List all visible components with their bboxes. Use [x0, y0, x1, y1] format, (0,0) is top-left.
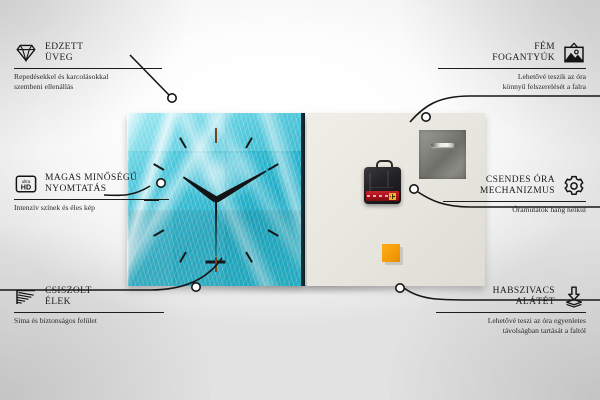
ultra-hd-badge-icon: ultra HD	[14, 172, 38, 196]
mechanism-groove	[369, 173, 371, 192]
callout-high-quality-print: ultra HD MAGAS MINŐSÉGŰ NYOMTATÁS Intenz…	[14, 172, 169, 213]
callout-title-line1: HABSZIVACS	[493, 286, 555, 298]
callout-title-line1: CSENDES ÓRA	[480, 175, 555, 187]
battery-plus-terminal	[389, 193, 396, 199]
callout-metal-handles: FÉM FOGANTYÚK Lehetővé teszik az óra kön…	[438, 41, 586, 91]
press-down-arrow-icon	[562, 285, 586, 309]
callout-title-line2: NYOMTATÁS	[45, 184, 137, 196]
hanging-picture-frame-icon	[562, 41, 586, 65]
callout-title-line1: CSISZOLT	[45, 286, 92, 298]
callout-title-line2: FOGANTYÚK	[492, 53, 555, 65]
callout-title-line1: EDZETT	[45, 42, 83, 54]
aa-battery	[366, 191, 399, 201]
hatched-edge-icon	[14, 285, 38, 309]
metal-hanger-plate	[419, 130, 466, 179]
callout-polished-edges: CSISZOLT ÉLEK Sima és biztonságos felüle…	[14, 285, 164, 326]
callout-tempered-glass: EDZETT ÜVEG Repedésekkel és karcolásokka…	[14, 41, 162, 91]
mechanism-groove	[387, 171, 389, 187]
callout-divider	[14, 312, 164, 313]
mechanism-hanger-loop	[376, 160, 393, 170]
callout-subtitle-line1: Óramutatók hang nélkül	[443, 205, 586, 215]
glass-edge-dark-right	[301, 113, 305, 286]
callout-silent-clock-mechanism: CSENDES ÓRA MECHANIZMUS Óramutatók hang …	[443, 174, 586, 215]
foam-spacer-pad	[382, 244, 400, 262]
callout-title-line2: MECHANIZMUS	[480, 186, 555, 198]
callout-divider	[438, 68, 586, 69]
callout-subtitle-line1: Repedésekkel és karcolásokkal	[14, 72, 162, 82]
callout-divider	[14, 68, 162, 69]
svg-text:HD: HD	[21, 183, 31, 192]
callout-title-line1: FÉM	[492, 42, 555, 54]
mechanism-groove	[370, 187, 394, 188]
callout-divider	[443, 201, 586, 202]
infographic-canvas: EDZETT ÜVEG Repedésekkel és karcolásokka…	[0, 0, 600, 400]
callout-divider	[14, 199, 169, 200]
callout-title-line1: MAGAS MINŐSÉGŰ	[45, 173, 137, 185]
diamond-icon	[14, 41, 38, 65]
callout-divider	[436, 312, 586, 313]
callout-subtitle-line2: távolságban tartását a faltól	[436, 326, 586, 336]
callout-subtitle-line2: szembeni ellenállás	[14, 82, 162, 92]
product-photo-group	[127, 113, 485, 288]
gear-icon	[562, 174, 586, 198]
callout-title-line2: ÉLEK	[45, 297, 92, 309]
callout-foam-pad: HABSZIVACS ALÁTÉT Lehetővé teszi az óra …	[436, 285, 586, 335]
callout-subtitle-line1: Intenzív színek és éles kép	[14, 203, 169, 213]
callout-subtitle-line2: könnyű felszerelését a falra	[438, 82, 586, 92]
hanger-slot	[431, 143, 454, 147]
callout-title-line2: ALÁTÉT	[493, 297, 555, 309]
quartz-clock-mechanism	[364, 167, 401, 204]
callout-title-line2: ÜVEG	[45, 53, 83, 65]
callout-subtitle-line1: Sima és biztonságos felület	[14, 316, 164, 326]
callout-subtitle-line1: Lehetővé teszik az óra	[438, 72, 586, 82]
product-ground-shadow	[131, 285, 481, 297]
callout-subtitle-line1: Lehetővé teszi az óra egyenletes	[436, 316, 586, 326]
wire-endpoint-tempered-glass	[168, 94, 176, 102]
